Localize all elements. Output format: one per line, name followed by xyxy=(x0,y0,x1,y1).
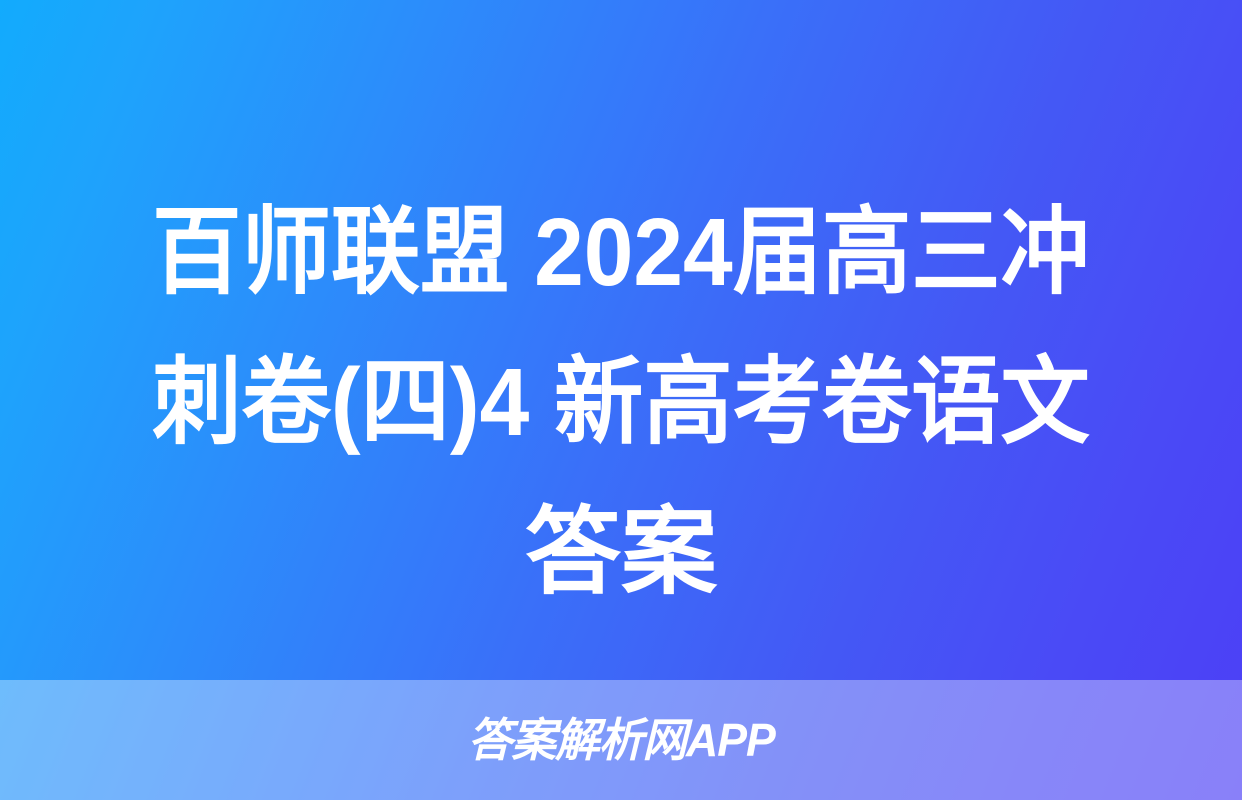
title-line-3: 答案 xyxy=(70,478,1172,628)
page-title: 百师联盟 2024届高三冲 刺卷(四)4 新高考卷语文 答案 xyxy=(0,178,1242,628)
app-watermark: 答案解析网APP xyxy=(467,717,774,763)
footer-bar: 答案解析网APP xyxy=(0,680,1242,800)
title-line-1: 百师联盟 2024届高三冲 xyxy=(109,178,1134,328)
title-line-2: 刺卷(四)4 新高考卷语文 xyxy=(109,328,1134,478)
poster-canvas: 百师联盟 2024届高三冲 刺卷(四)4 新高考卷语文 答案 答案解析网APP xyxy=(0,0,1242,800)
